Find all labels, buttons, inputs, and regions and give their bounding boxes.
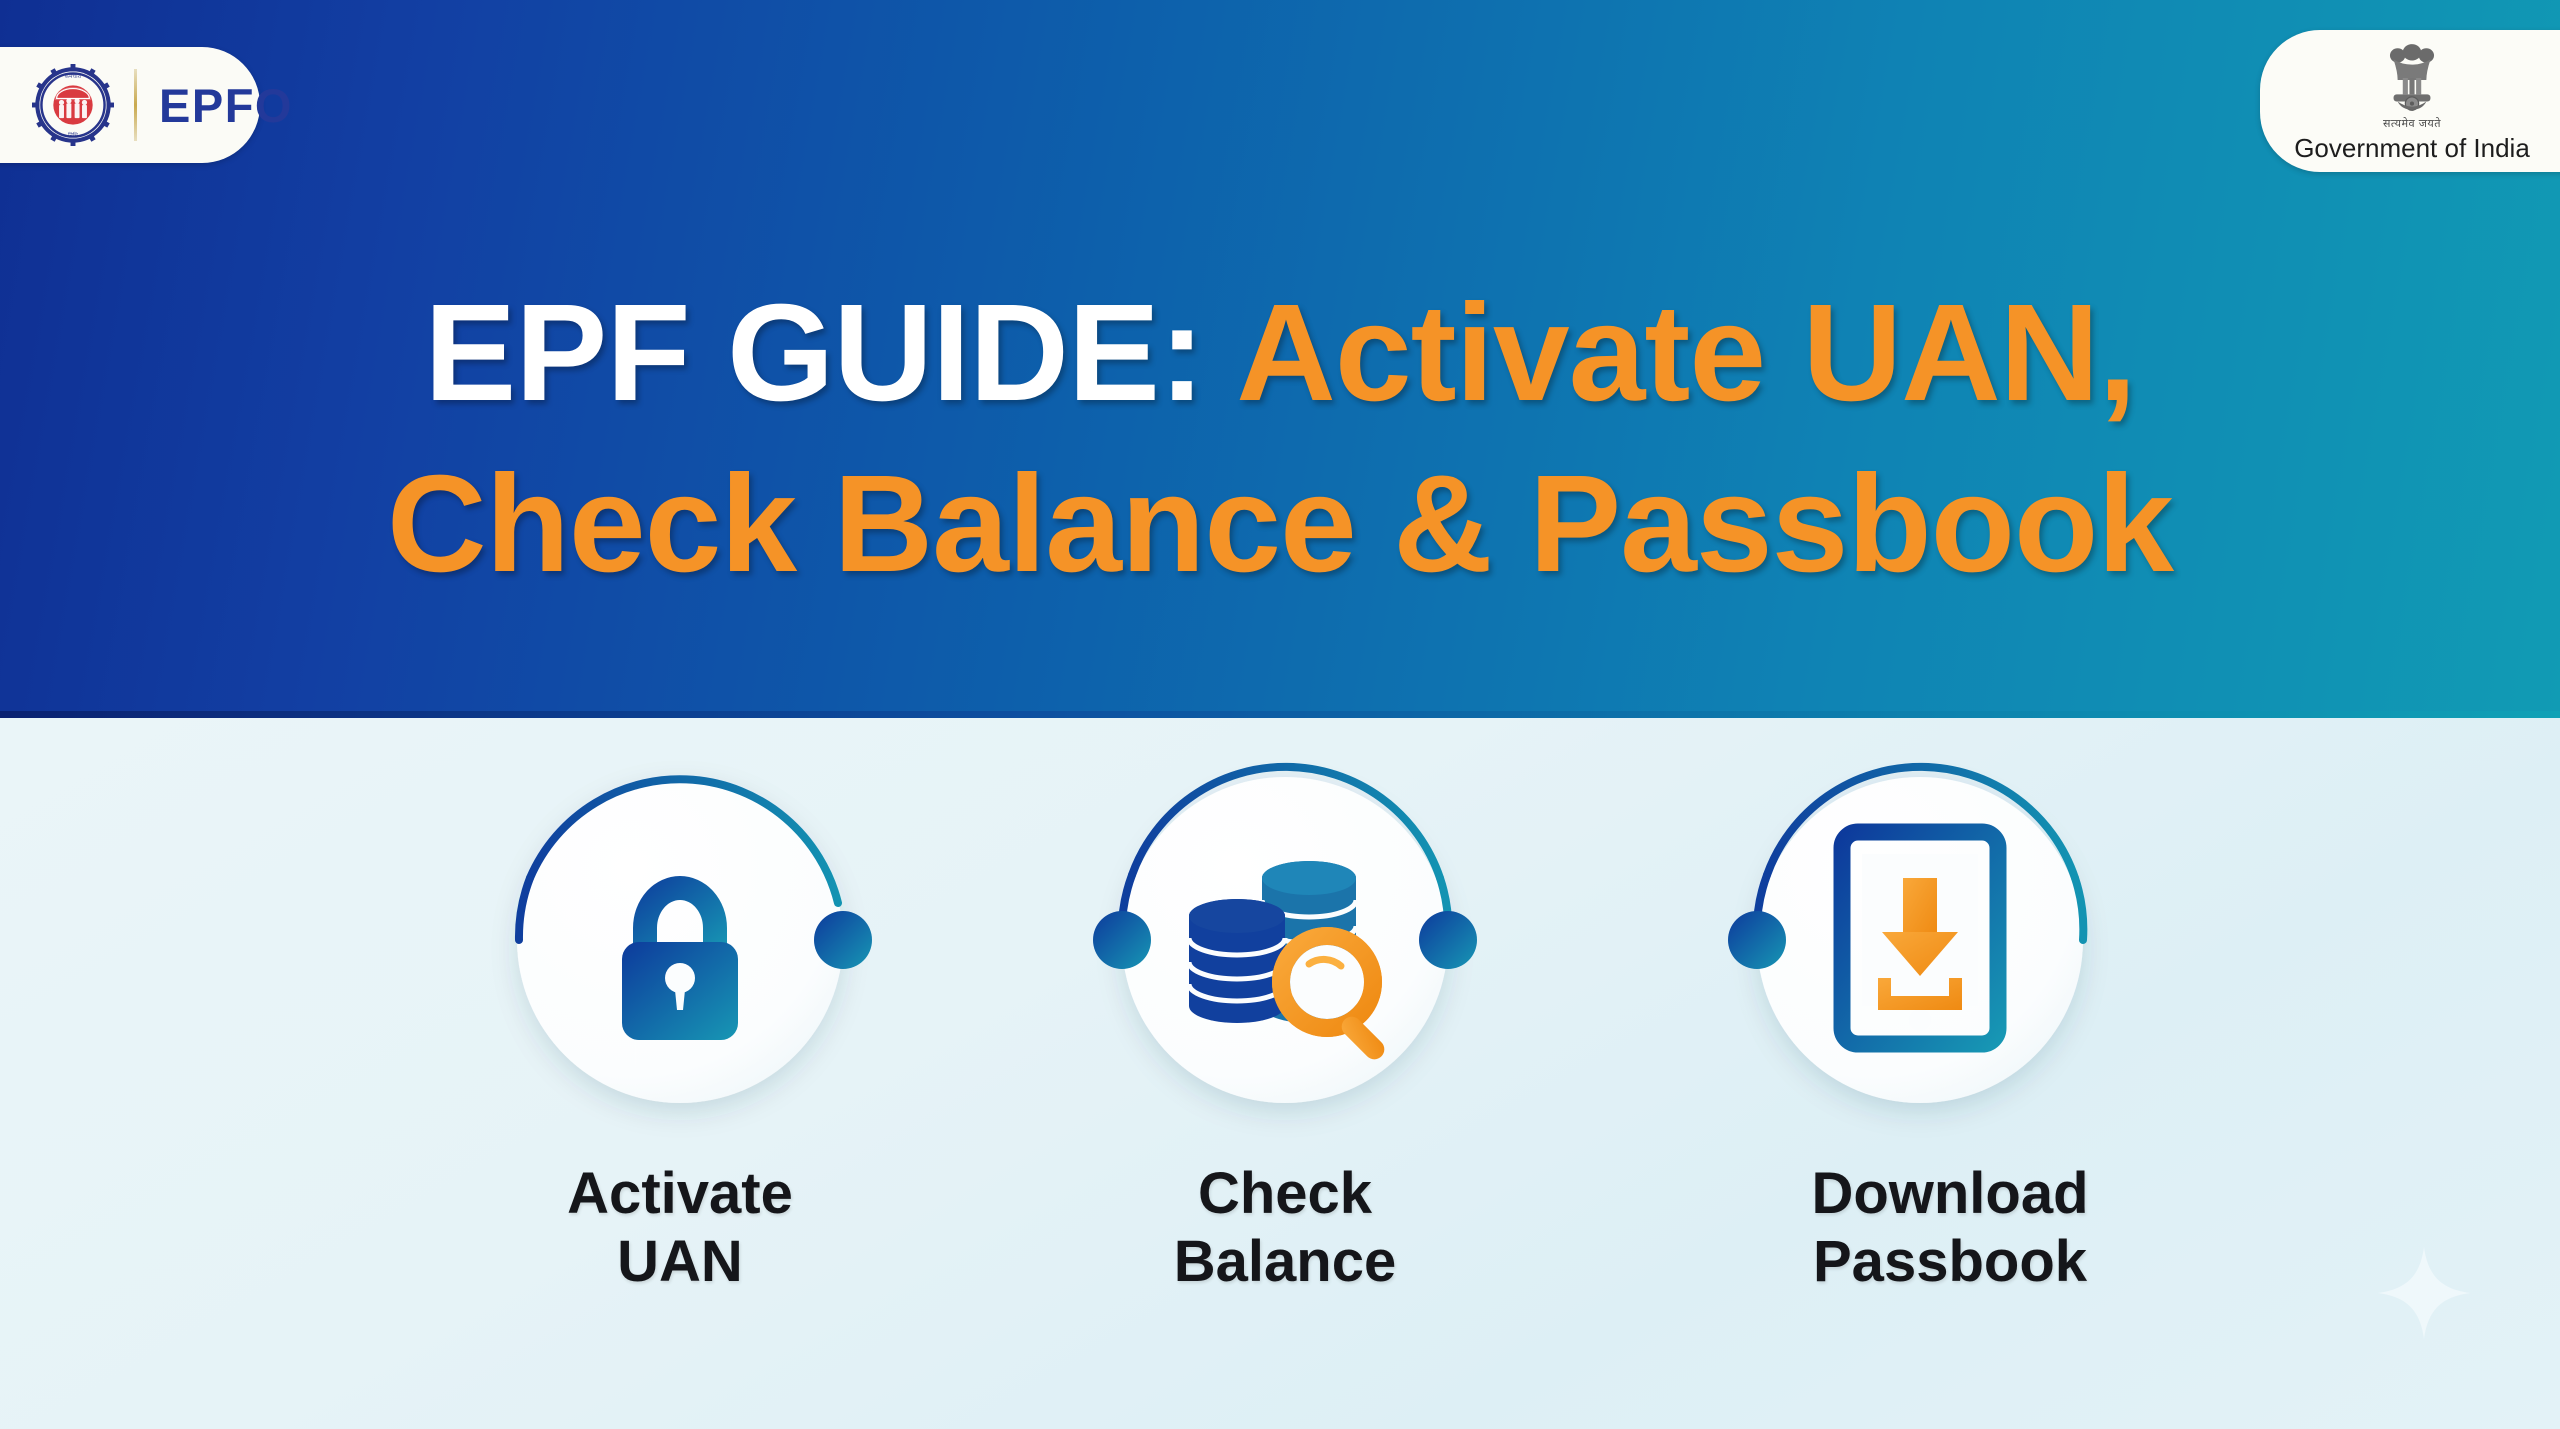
title-part-white: EPF GUIDE: <box>424 276 1204 430</box>
step-label-activate-uan: Activate UAN <box>450 1160 910 1296</box>
epfo-brand-badge: कर्मचारी निधि <box>0 47 260 163</box>
epfo-brand-label: EPFO <box>159 82 293 129</box>
epfo-gear-logo-icon: कर्मचारी निधि <box>32 64 114 146</box>
step-label-line1: Download <box>1811 1161 2088 1226</box>
vertical-divider-icon <box>134 69 137 141</box>
government-of-india-badge: सत्यमेव जयते Government of India <box>2260 30 2560 172</box>
goi-motto-text: सत्यमेव जयते <box>2383 116 2441 131</box>
step-label-line1: Check <box>1198 1161 1372 1226</box>
header-banner: कर्मचारी निधि <box>0 0 2560 718</box>
ashoka-pillar-emblem-icon <box>2381 39 2443 121</box>
step-label-line2: UAN <box>450 1228 910 1296</box>
title-part-orange: Activate UAN, <box>1204 276 2136 430</box>
goi-label: Government of India <box>2294 133 2530 164</box>
page-title: EPF GUIDE: Activate UAN, Check Balance &… <box>0 268 2560 610</box>
title-line-2-text: Check Balance & Passbook <box>387 447 2173 601</box>
svg-text:निधि: निधि <box>68 131 78 139</box>
step-labels: Activate UAN Check Balance Download Pass… <box>0 1160 2560 1360</box>
step-label-download-passbook: Download Passbook <box>1680 1160 2220 1296</box>
step-label-line1: Activate <box>567 1161 793 1226</box>
title-line-2: Check Balance & Passbook <box>0 439 2560 610</box>
step-label-check-balance: Check Balance <box>1055 1160 1515 1296</box>
step-label-line2: Passbook <box>1680 1228 2220 1296</box>
step-label-line2: Balance <box>1055 1228 1515 1296</box>
svg-text:कर्मचारी: कर्मचारी <box>65 72 82 80</box>
title-line-1: EPF GUIDE: Activate UAN, <box>0 268 2560 439</box>
